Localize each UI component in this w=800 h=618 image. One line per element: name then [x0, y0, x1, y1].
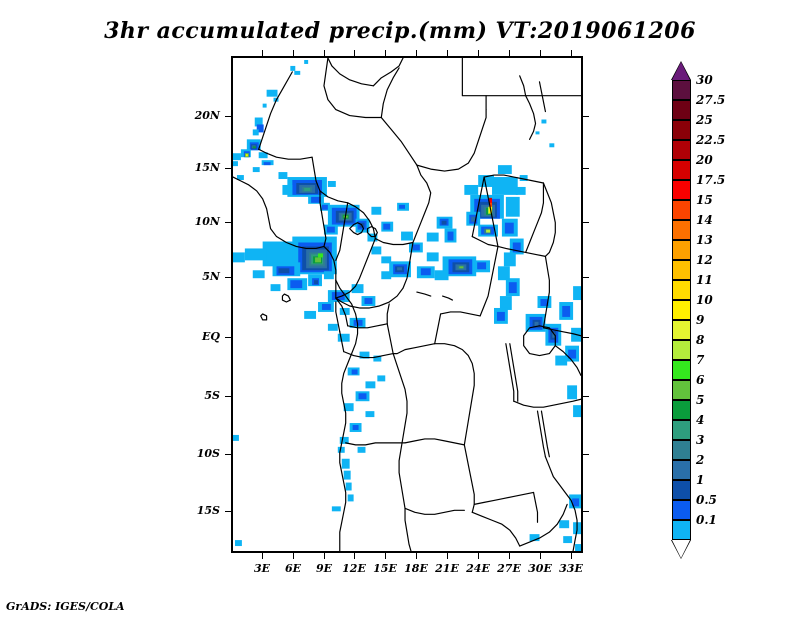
x-tick-top: [324, 50, 325, 56]
colorbar-swatch: [672, 520, 691, 540]
colorbar-swatch: [672, 120, 691, 140]
x-tick-top: [509, 50, 510, 56]
colorbar-tick-label: 20: [696, 153, 713, 167]
colorbar-swatch: [672, 180, 691, 200]
y-axis-label-10S: 10S: [160, 447, 220, 460]
x-tick-top: [447, 50, 448, 56]
x-tick-bottom: [478, 553, 479, 559]
y-axis-label-EQ: EQ: [160, 330, 220, 343]
x-tick-top: [385, 50, 386, 56]
y-tick-right: [583, 337, 589, 338]
colorbar-swatch: [672, 300, 691, 320]
x-tick-bottom: [262, 553, 263, 559]
colorbar-tick-label: 13: [696, 233, 713, 247]
colorbar-swatch: [672, 240, 691, 260]
y-axis-label-20N: 20N: [160, 109, 220, 122]
y-axis-label-15S: 15S: [160, 504, 220, 517]
colorbar-swatch: [672, 420, 691, 440]
colorbar-swatch: [672, 280, 691, 300]
colorbar-swatch: [672, 320, 691, 340]
map-borders: [233, 58, 581, 551]
x-tick-bottom: [571, 553, 572, 559]
y-tick-left: [225, 116, 231, 117]
colorbar-tick-label: 25: [696, 113, 713, 127]
colorbar-tick-label: 8: [696, 333, 704, 347]
x-axis-label-33E: 33E: [551, 562, 591, 575]
x-tick-bottom: [385, 553, 386, 559]
colorbar-swatch: [672, 260, 691, 280]
colorbar-swatch: [672, 340, 691, 360]
y-tick-left: [225, 454, 231, 455]
x-tick-top: [478, 50, 479, 56]
x-tick-top: [571, 50, 572, 56]
x-tick-bottom: [540, 553, 541, 559]
colorbar-tick-label: 27.5: [696, 93, 725, 107]
y-tick-left: [225, 168, 231, 169]
y-tick-right: [583, 396, 589, 397]
y-axis-label-15N: 15N: [160, 161, 220, 174]
y-tick-right: [583, 277, 589, 278]
colorbar-tick-label: 4: [696, 413, 704, 427]
y-tick-right: [583, 116, 589, 117]
colorbar-tick-label: 0.5: [696, 493, 717, 507]
x-tick-bottom: [416, 553, 417, 559]
colorbar-swatch: [672, 200, 691, 220]
colorbar-swatch: [672, 360, 691, 380]
colorbar-tick-label: 15: [696, 193, 713, 207]
colorbar-tick-label: 3: [696, 433, 704, 447]
y-tick-left: [225, 222, 231, 223]
colorbar-tick-label: 12: [696, 253, 713, 267]
y-axis-label-5N: 5N: [160, 270, 220, 283]
map-plot-area: [231, 56, 583, 553]
colorbar-tick-label: 0.1: [696, 513, 717, 527]
colorbar-swatch: [672, 440, 691, 460]
x-tick-bottom: [324, 553, 325, 559]
colorbar-under-arrow: [672, 540, 690, 558]
colorbar-swatch: [672, 80, 691, 100]
colorbar-tick-label: 2: [696, 453, 704, 467]
precipitation-field: [233, 60, 581, 551]
x-tick-top: [416, 50, 417, 56]
colorbar-swatch: [672, 380, 691, 400]
x-tick-bottom: [447, 553, 448, 559]
y-tick-right: [583, 511, 589, 512]
colorbar-swatch: [672, 160, 691, 180]
y-axis-label-5S: 5S: [160, 389, 220, 402]
colorbar-swatch: [672, 220, 691, 240]
y-tick-left: [225, 277, 231, 278]
x-tick-top: [354, 50, 355, 56]
colorbar-tick-label: 30: [696, 73, 713, 87]
colorbar-swatch: [672, 140, 691, 160]
colorbar-tick-label: 17.5: [696, 173, 725, 187]
y-tick-left: [225, 511, 231, 512]
y-tick-left: [225, 337, 231, 338]
y-tick-right: [583, 222, 589, 223]
colorbar-tick-label: 11: [696, 273, 713, 287]
x-tick-top: [262, 50, 263, 56]
colorbar-swatch: [672, 100, 691, 120]
colorbar-tick-label: 10: [696, 293, 713, 307]
y-tick-right: [583, 454, 589, 455]
x-tick-top: [293, 50, 294, 56]
colorbar-tick-label: 9: [696, 313, 704, 327]
colorbar-tick-label: 22.5: [696, 133, 725, 147]
colorbar-tick-label: 6: [696, 373, 704, 387]
colorbar-swatch: [672, 480, 691, 500]
colorbar-over-arrow: [672, 62, 690, 80]
colorbar-tick-label: 1: [696, 473, 704, 487]
page-title: 3hr accumulated precip.(mm) VT:201906120…: [0, 18, 800, 44]
colorbar-swatch: [672, 400, 691, 420]
y-tick-right: [583, 168, 589, 169]
colorbar-tick-label: 14: [696, 213, 713, 227]
x-tick-bottom: [509, 553, 510, 559]
x-tick-top: [540, 50, 541, 56]
colorbar: 3027.52522.52017.51514131211109876543210…: [672, 80, 691, 540]
credit-text: GrADS: IGES/COLA: [6, 600, 125, 613]
y-axis-label-10N: 10N: [160, 215, 220, 228]
map-canvas: [233, 58, 581, 551]
x-tick-bottom: [293, 553, 294, 559]
colorbar-tick-label: 7: [696, 353, 704, 367]
colorbar-tick-label: 5: [696, 393, 704, 407]
colorbar-swatch: [672, 500, 691, 520]
y-tick-left: [225, 396, 231, 397]
colorbar-swatch: [672, 460, 691, 480]
x-tick-bottom: [354, 553, 355, 559]
